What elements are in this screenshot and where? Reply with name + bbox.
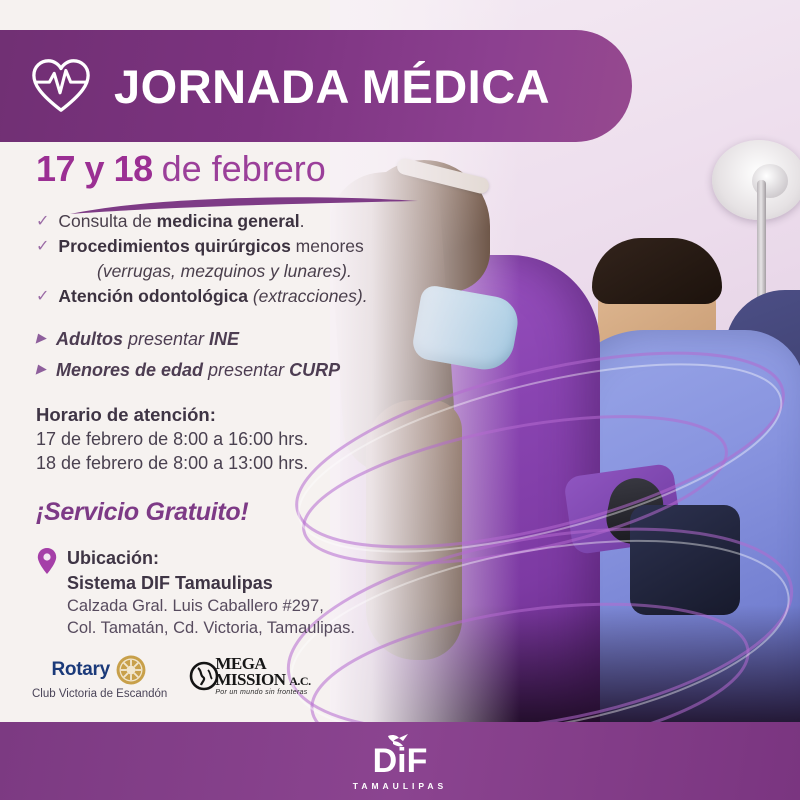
page-title: JORNADA MÉDICA bbox=[114, 63, 550, 110]
content-column: 17 y 18 de febrero ✓ Consulta de medicin… bbox=[0, 150, 420, 639]
arrow-icon: ▶ bbox=[36, 328, 46, 348]
location-name: Sistema DIF Tamaulipas bbox=[67, 571, 355, 595]
mega-mission-text: MEGA MISSION A.C. Por un mundo sin front… bbox=[215, 656, 310, 696]
list-item: ▶ Menores de edad presentar CURP bbox=[36, 359, 420, 382]
list-item: ✓ Procedimientos quirúrgicos menores bbox=[36, 235, 420, 258]
check-icon: ✓ bbox=[36, 235, 49, 258]
list-item-text: Menores de edad presentar CURP bbox=[56, 359, 340, 382]
arrow-icon: ▶ bbox=[36, 359, 46, 379]
heart-pulse-icon bbox=[30, 56, 92, 116]
location-address-line1: Calzada Gral. Luis Caballero #297, bbox=[67, 595, 355, 617]
list-item-text: Adultos presentar INE bbox=[56, 328, 239, 351]
check-icon: ✓ bbox=[36, 210, 49, 233]
list-item: ▶ Adultos presentar INE bbox=[36, 328, 420, 351]
mega-line2: MISSION A.C. bbox=[215, 672, 310, 688]
dif-wordmark: DiF bbox=[373, 742, 428, 778]
mega-mission-logo: MEGA MISSION A.C. Por un mundo sin front… bbox=[189, 656, 310, 696]
medical-bag bbox=[630, 505, 740, 615]
dif-logo: DiF bbox=[358, 732, 442, 778]
medical-lamp bbox=[712, 140, 800, 220]
location-block: Ubicación: Sistema DIF Tamaulipas Calzad… bbox=[36, 547, 420, 639]
list-item-text: Atención odontológica (extracciones). bbox=[58, 285, 367, 308]
schedule-block: Horario de atención: 17 de febrero de 8:… bbox=[36, 404, 420, 476]
services-subline: (verrugas, mezquinos y lunares). bbox=[97, 260, 420, 283]
date-strong: 17 y 18 bbox=[36, 150, 153, 188]
schedule-title: Horario de atención: bbox=[36, 404, 420, 426]
header-banner: JORNADA MÉDICA bbox=[0, 30, 632, 142]
location-title: Ubicación: bbox=[67, 547, 355, 570]
sponsor-logos: Rotary bbox=[32, 650, 362, 702]
schedule-line: 17 de febrero de 8:00 a 16:00 hrs. bbox=[36, 428, 420, 452]
doctor-hair bbox=[592, 238, 722, 304]
check-icon: ✓ bbox=[36, 285, 49, 308]
free-service-text: ¡Servicio Gratuito! bbox=[36, 498, 420, 527]
map-pin-icon bbox=[36, 547, 58, 575]
rotary-row: Rotary bbox=[51, 653, 147, 687]
date-headline: 17 y 18 de febrero bbox=[36, 150, 420, 188]
rotary-wordmark: Rotary bbox=[51, 659, 109, 681]
dif-subtitle: TAMAULIPAS bbox=[353, 781, 447, 791]
rotary-logo: Rotary bbox=[32, 653, 167, 700]
requirements-list: ▶ Adultos presentar INE ▶ Menores de eda… bbox=[36, 328, 420, 382]
location-text: Ubicación: Sistema DIF Tamaulipas Calzad… bbox=[67, 547, 355, 639]
swoosh-underline bbox=[66, 192, 426, 216]
list-item: ✓ Atención odontológica (extracciones). bbox=[36, 285, 420, 308]
poster: JORNADA MÉDICA 17 y 18 de febrero ✓ Cons… bbox=[0, 0, 800, 800]
location-address-line2: Col. Tamatán, Cd. Victoria, Tamaulipas. bbox=[67, 617, 355, 639]
date-rest: de febrero bbox=[162, 150, 326, 188]
footer-bar: DiF TAMAULIPAS bbox=[0, 722, 800, 800]
schedule-line: 18 de febrero de 8:00 a 13:00 hrs. bbox=[36, 452, 420, 476]
services-list: ✓ Consulta de medicina general. ✓ Proced… bbox=[36, 210, 420, 309]
list-item-text: Procedimientos quirúrgicos menores bbox=[58, 235, 363, 258]
mega-tagline: Por un mundo sin fronteras bbox=[215, 689, 310, 696]
rotary-gear-icon bbox=[114, 653, 148, 687]
rotary-club-name: Club Victoria de Escandón bbox=[32, 688, 167, 700]
